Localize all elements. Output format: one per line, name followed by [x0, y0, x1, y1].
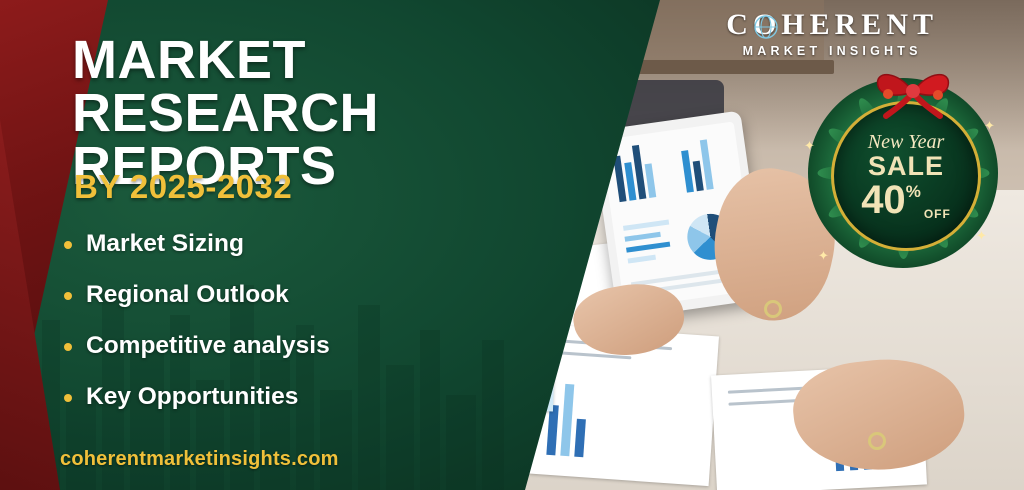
sparkle-icon: ✦ — [804, 138, 815, 154]
feature-list: Market Sizing Regional Outlook Competiti… — [60, 230, 330, 434]
headline-block: MARKET RESEARCH REPORTS BY 2025-2032 Mar… — [0, 0, 620, 490]
brand-name-part2: HERENT — [781, 8, 938, 41]
list-item: Regional Outlook — [60, 281, 330, 309]
promo-off-label: OFF — [924, 208, 951, 220]
sparkle-icon: ✦ — [984, 118, 995, 134]
sparkle-icon: ✦ — [818, 248, 829, 264]
marketing-banner: MARKET RESEARCH REPORTS BY 2025-2032 Mar… — [0, 0, 1024, 490]
promo-line-1: New Year — [868, 132, 945, 152]
brand-tagline: MARKET INSIGHTS — [726, 44, 938, 58]
promo-percent-symbol: % — [906, 183, 921, 200]
brand-name: COHERENT — [726, 8, 938, 42]
brand-name-part1: C — [726, 8, 753, 41]
globe-icon: O — [753, 8, 781, 42]
sale-badge[interactable]: New Year SALE 40 % OFF ✦ ✦ ✦ ✦ — [808, 78, 998, 268]
photo-ring — [764, 300, 782, 318]
website-url[interactable]: coherentmarketinsights.com — [60, 448, 339, 471]
headline-line-1: MARKET RESEARCH — [72, 30, 379, 143]
sale-badge-circle: New Year SALE 40 % OFF — [831, 101, 981, 251]
ribbon-bow-icon — [868, 64, 958, 120]
brand-logo[interactable]: COHERENT MARKET INSIGHTS — [726, 8, 938, 58]
promo-percent-value: 40 — [861, 180, 906, 220]
list-item: Competitive analysis — [60, 332, 330, 360]
photo-ring-2 — [868, 432, 886, 450]
promo-discount: 40 % OFF — [861, 180, 951, 220]
sparkle-icon: ✦ — [976, 228, 987, 244]
list-item: Key Opportunities — [60, 383, 330, 411]
subheadline: BY 2025-2032 — [74, 168, 292, 206]
promo-line-2: SALE — [868, 152, 944, 180]
list-item: Market Sizing — [60, 230, 330, 258]
